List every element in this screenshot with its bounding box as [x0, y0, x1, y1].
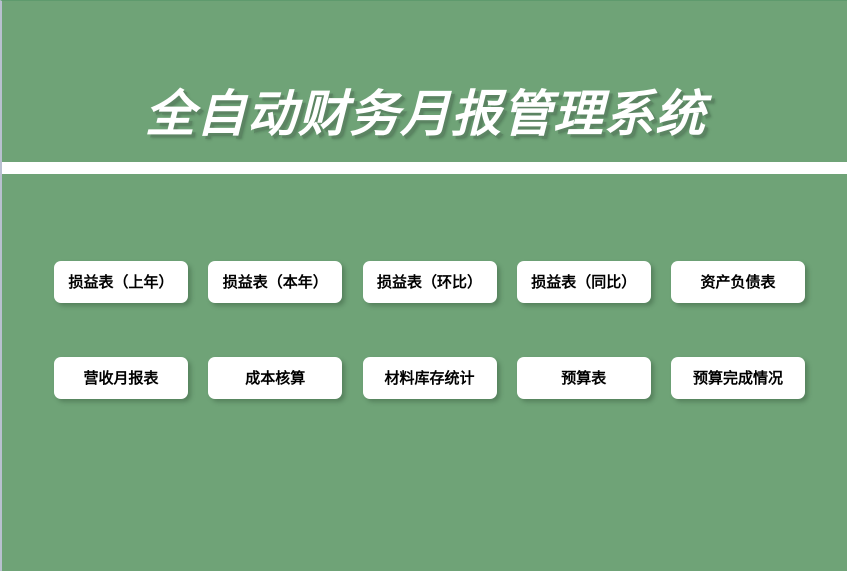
report-button-cost-accounting[interactable]: 成本核算 — [208, 357, 342, 399]
report-button-label: 营收月报表 — [83, 357, 158, 399]
title-banner: 全自动财务月报管理系统 — [2, 1, 847, 162]
report-button-label: 成本核算 — [245, 357, 305, 399]
application-window: 全自动财务月报管理系统 损益表（上年） 损益表（本年） 损益表（环比） 损益表（… — [0, 0, 847, 571]
operations-row: 营收月报表 成本核算 材料库存统计 预算表 预算完成情况 — [54, 357, 805, 399]
report-button-label: 资产负债表 — [700, 261, 775, 303]
report-button-revenue-monthly-report[interactable]: 营收月报表 — [54, 357, 188, 399]
report-button-budget-table[interactable]: 预算表 — [517, 357, 651, 399]
report-button-budget-completion[interactable]: 预算完成情况 — [671, 357, 805, 399]
income-statement-row: 损益表（上年） 损益表（本年） 损益表（环比） 损益表（同比） 资产负债表 — [54, 261, 805, 303]
report-button-profit-loss-prev-year[interactable]: 损益表（上年） — [54, 261, 188, 303]
report-button-profit-loss-mom[interactable]: 损益表（环比） — [363, 261, 497, 303]
report-button-profit-loss-this-year[interactable]: 损益表（本年） — [208, 261, 342, 303]
report-button-label: 预算完成情况 — [693, 357, 783, 399]
report-button-grid: 损益表（上年） 损益表（本年） 损益表（环比） 损益表（同比） 资产负债表 营收… — [2, 174, 847, 571]
report-button-label: 损益表（同比） — [531, 261, 636, 303]
report-button-material-inventory[interactable]: 材料库存统计 — [363, 357, 497, 399]
header-divider — [2, 162, 847, 174]
report-button-label: 损益表（上年） — [68, 261, 173, 303]
report-button-label: 损益表（本年） — [223, 261, 328, 303]
report-button-label: 损益表（环比） — [377, 261, 482, 303]
report-button-profit-loss-yoy[interactable]: 损益表（同比） — [517, 261, 651, 303]
report-button-label: 预算表 — [561, 357, 606, 399]
report-button-balance-sheet[interactable]: 资产负债表 — [671, 261, 805, 303]
report-button-label: 材料库存统计 — [384, 357, 474, 399]
page-title: 全自动财务月报管理系统 — [2, 83, 847, 145]
